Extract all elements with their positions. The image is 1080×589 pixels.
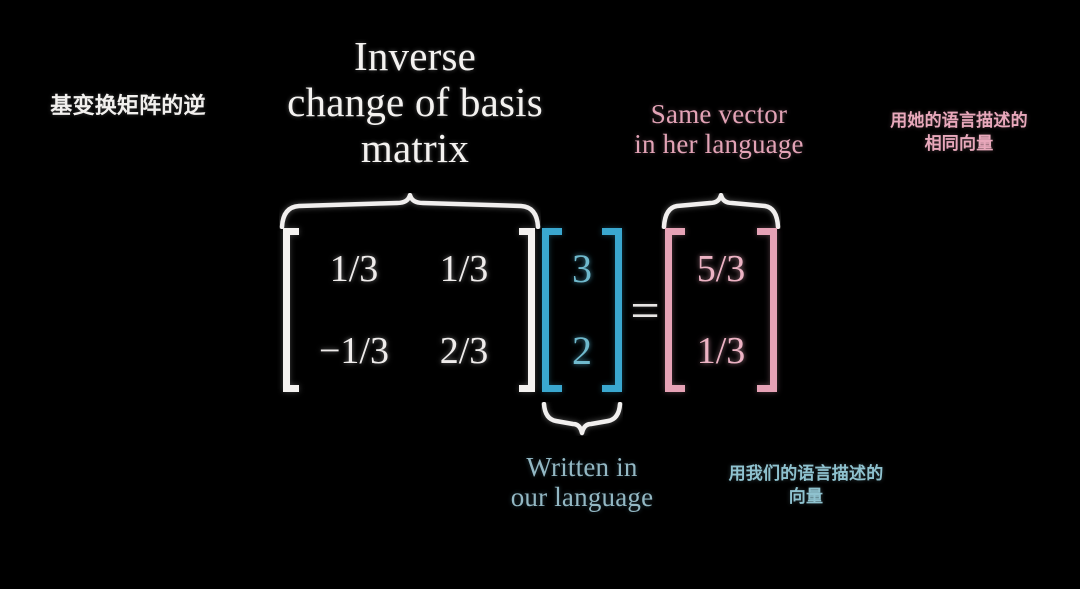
slide-canvas: Inverse change of basis matrix 基变换矩阵的逆 S… bbox=[0, 0, 1080, 589]
matrix-left-bracket bbox=[283, 228, 299, 392]
annotation-same-vector-chinese: 用她的语言描述的 相同向量 bbox=[845, 110, 1073, 156]
overbrace-matrix-icon bbox=[279, 193, 541, 229]
matrix-cell-r2c1: −1/3 bbox=[299, 332, 409, 370]
input-vector-left-bracket bbox=[542, 228, 562, 392]
matrix-cells: 1/3 1/3 −1/3 2/3 bbox=[299, 228, 519, 392]
output-vector-left-bracket bbox=[665, 228, 685, 392]
output-vector-cells: 5/3 1/3 bbox=[685, 228, 757, 392]
annotation-same-vector-in-her-language: Same vector in her language bbox=[592, 99, 846, 159]
inverse-change-of-basis-matrix: 1/3 1/3 −1/3 2/3 bbox=[283, 228, 535, 392]
equals-sign: = bbox=[628, 286, 662, 338]
matrix-row: −1/3 2/3 bbox=[299, 332, 519, 370]
title-inverse-change-of-basis-matrix: Inverse change of basis matrix bbox=[240, 34, 590, 172]
output-vector-row: 1/3 bbox=[685, 332, 757, 370]
matrix-cell-r1c1: 1/3 bbox=[299, 250, 409, 288]
input-vector-cells: 3 2 bbox=[562, 228, 602, 392]
output-vector-row: 5/3 bbox=[685, 250, 757, 288]
output-vector-pink: 5/3 1/3 bbox=[665, 228, 777, 392]
matrix-right-bracket bbox=[519, 228, 535, 392]
matrix-row: 1/3 1/3 bbox=[299, 250, 519, 288]
input-vector-row: 2 bbox=[562, 331, 602, 371]
overbrace-output-vector-icon bbox=[661, 193, 781, 229]
output-vector-right-bracket bbox=[757, 228, 777, 392]
title-chinese-translation: 基变换矩阵的逆 bbox=[8, 95, 248, 120]
matrix-cell-r2c2: 2/3 bbox=[409, 332, 519, 370]
input-vector-cell-r1: 3 bbox=[562, 249, 602, 289]
input-vector-right-bracket bbox=[602, 228, 622, 392]
input-vector-blue: 3 2 bbox=[542, 228, 622, 392]
output-vector-cell-r2: 1/3 bbox=[685, 332, 757, 370]
matrix-cell-r1c2: 1/3 bbox=[409, 250, 519, 288]
underbrace-input-vector-icon bbox=[541, 402, 623, 436]
annotation-written-in-our-language-chinese: 用我们的语言描述的 向量 bbox=[690, 463, 922, 509]
annotation-written-in-our-language: Written in our language bbox=[472, 452, 692, 512]
input-vector-cell-r2: 2 bbox=[562, 331, 602, 371]
input-vector-row: 3 bbox=[562, 249, 602, 289]
output-vector-cell-r1: 5/3 bbox=[685, 250, 757, 288]
